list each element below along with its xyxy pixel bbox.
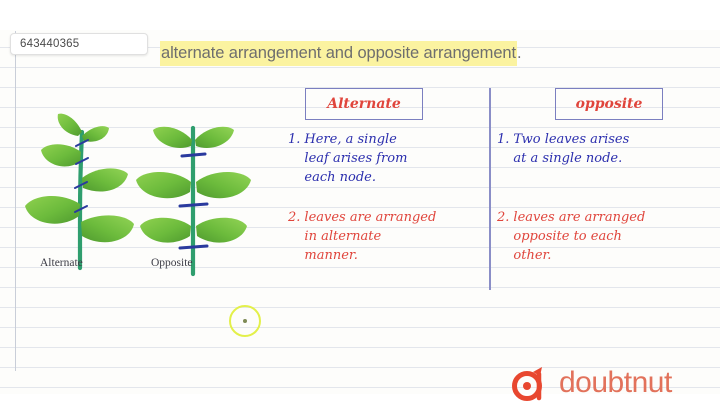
plants-svg: Alternate Opposite xyxy=(20,96,285,286)
margin-line xyxy=(15,31,16,371)
plant-label-opposite: Opposite xyxy=(151,257,193,269)
column-header-alternate: Alternate xyxy=(327,96,401,112)
plant-alternate xyxy=(25,114,134,268)
tap-indicator-dot xyxy=(243,319,247,323)
tap-indicator-icon xyxy=(229,305,261,337)
question-id-text: 643440365 xyxy=(20,38,79,50)
page-title: alternate arrangement and opposite arran… xyxy=(160,44,522,63)
column-header-box-alternate: Alternate xyxy=(305,88,423,120)
column-header-opposite: opposite xyxy=(576,96,643,112)
list-item-number: 2. xyxy=(288,208,300,265)
notebook-page: 643440365 alternate arrangement and oppo… xyxy=(0,0,720,404)
list-item: 2. leaves are arranged opposite to each … xyxy=(497,208,702,265)
title-tail-text: . xyxy=(517,41,522,66)
doubtnut-logo[interactable]: doubtnut xyxy=(512,364,672,402)
list-item-number: 1. xyxy=(497,130,509,168)
list-item-text: Two leaves arises at a single node. xyxy=(513,130,629,168)
title-highlighted-text: alternate arrangement and opposite arran… xyxy=(160,41,517,66)
plant-opposite xyxy=(136,127,251,274)
list-item: 1. Here, a single leaf arises from each … xyxy=(288,130,483,187)
leaf-arrangement-diagram: Alternate Opposite xyxy=(20,96,285,286)
list-item-number: 1. xyxy=(288,130,300,187)
list-item-text: leaves are arranged opposite to each oth… xyxy=(513,208,645,265)
list-item-text: leaves are arranged in alternate manner. xyxy=(304,208,436,265)
list-item-text: Here, a single leaf arises from each nod… xyxy=(304,130,407,187)
page-top-area xyxy=(0,0,720,30)
doubtnut-wordmark: doubtnut xyxy=(559,368,672,398)
doubtnut-mark-icon xyxy=(512,364,552,402)
column-divider xyxy=(489,88,491,290)
question-id-badge[interactable]: 643440365 xyxy=(10,33,148,55)
list-item-number: 2. xyxy=(497,208,509,265)
column-header-box-opposite: opposite xyxy=(555,88,663,120)
list-item: 2. leaves are arranged in alternate mann… xyxy=(288,208,488,265)
plant-label-alternate: Alternate xyxy=(40,257,83,269)
list-item: 1. Two leaves arises at a single node. xyxy=(497,130,697,168)
